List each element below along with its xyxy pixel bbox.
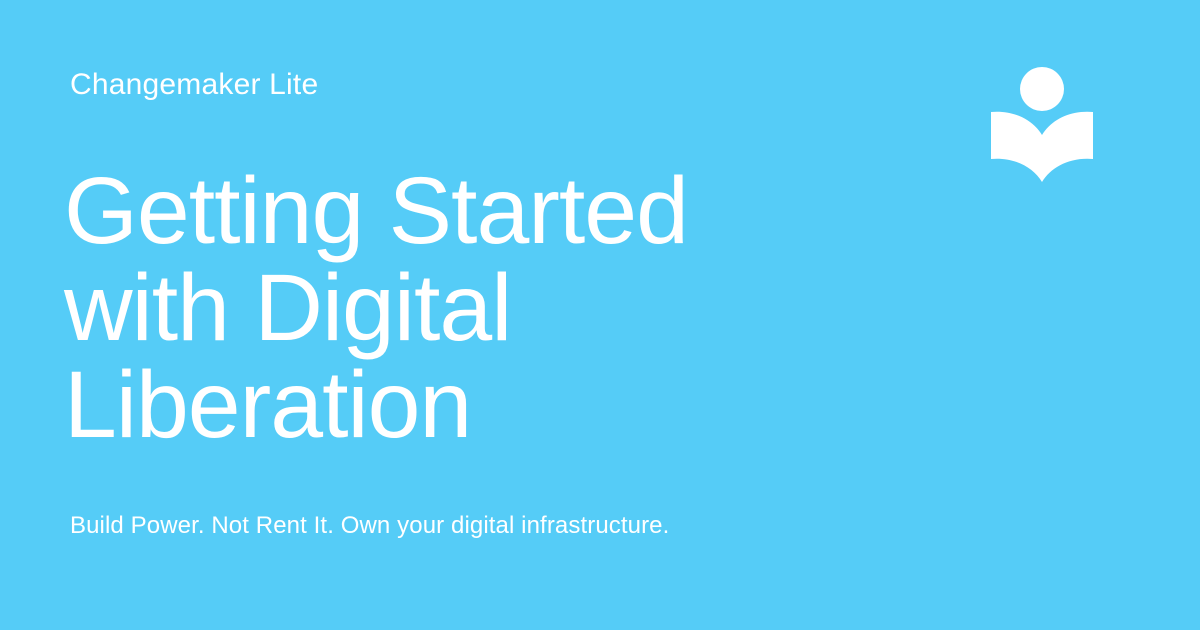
headline-line-2: with Digital [64,260,688,357]
brand-label: Changemaker Lite [70,68,318,102]
person-open-book-icon [980,60,1104,192]
page-title: Getting Started with Digital Liberation [64,163,688,454]
card-content: Changemaker Lite Getting Started with Di… [70,0,950,630]
headline-line-1: Getting Started [64,163,688,260]
headline-line-3: Liberation [64,357,688,454]
subtitle-tagline: Build Power. Not Rent It. Own your digit… [70,511,669,541]
og-share-card: Changemaker Lite Getting Started with Di… [0,0,1200,630]
